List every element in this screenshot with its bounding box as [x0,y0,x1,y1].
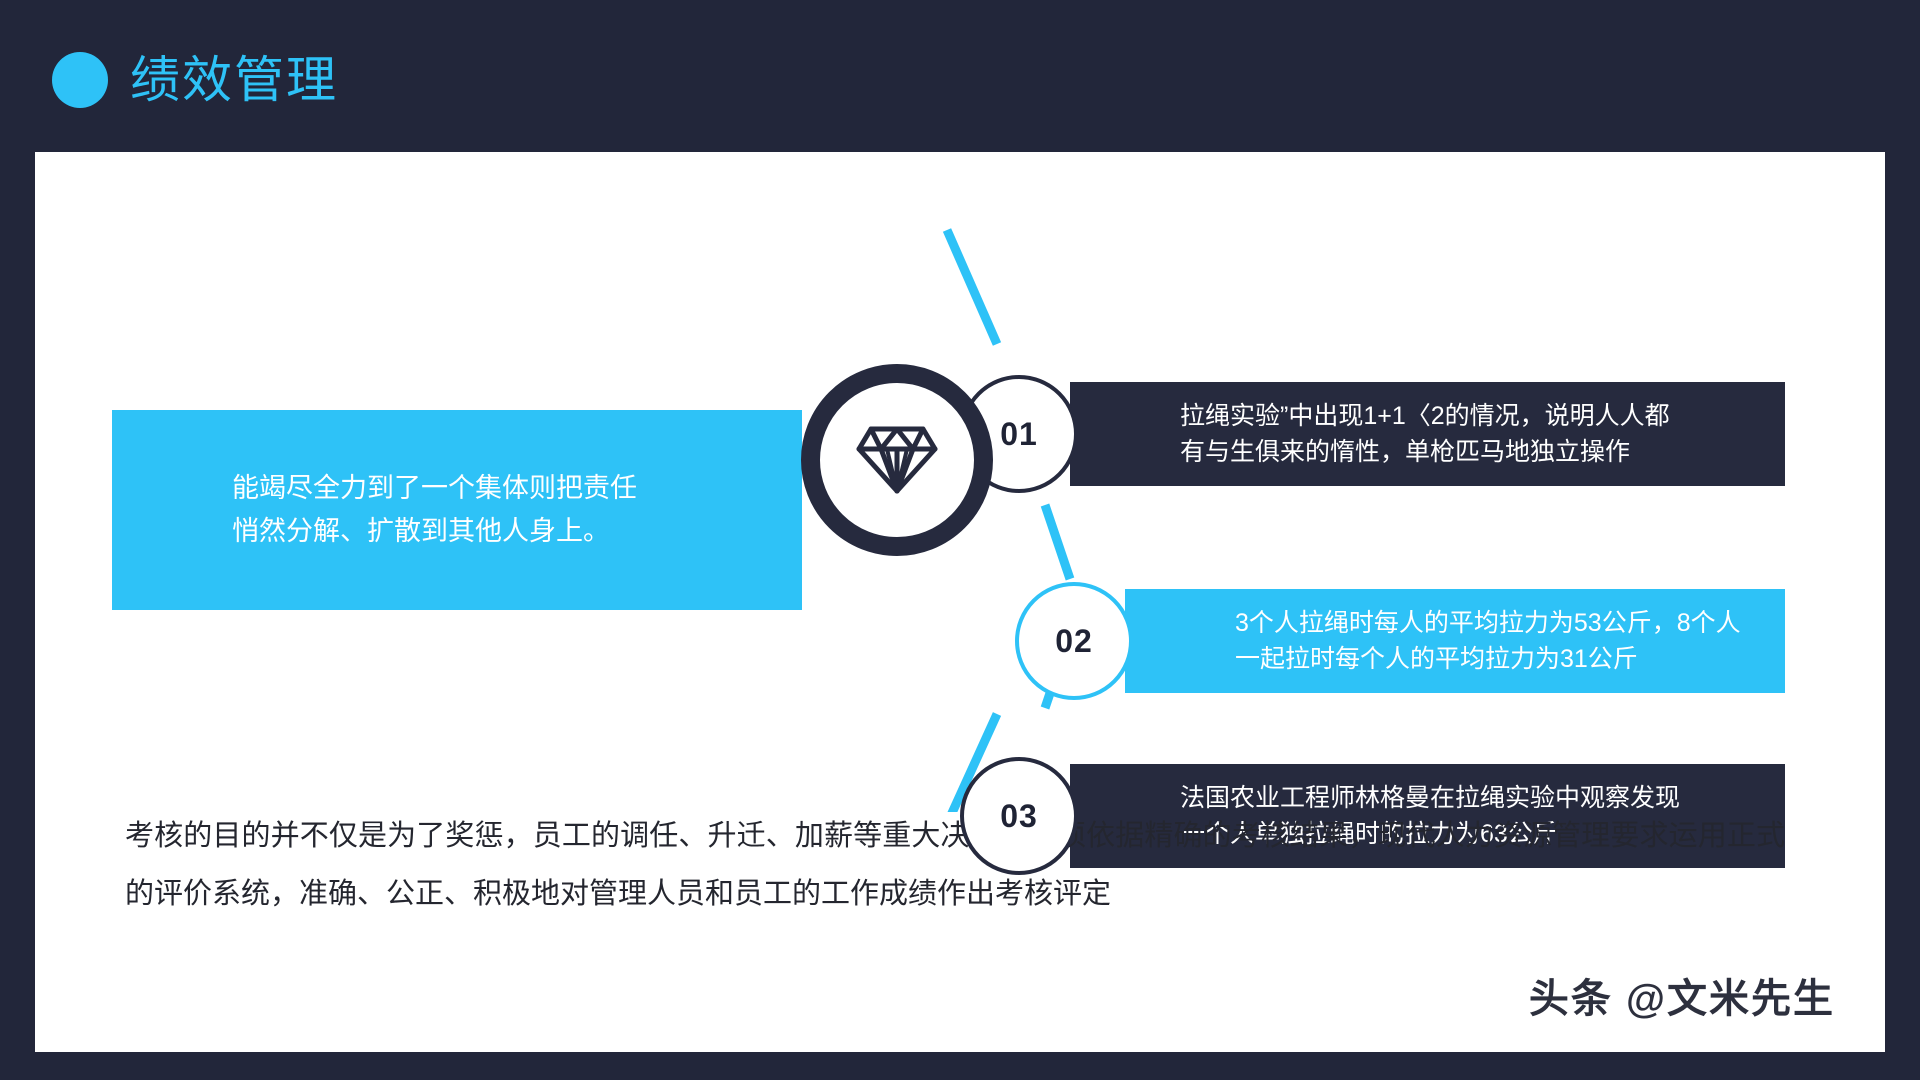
step-circle-03[interactable]: 03 [960,757,1078,875]
step-text-02: 3个人拉绳时每人的平均拉力为53公斤，8个人 一起拉时每个人的平均拉力为31公斤 [1125,605,1771,678]
step-number-02: 02 [1055,623,1093,660]
step-number-01: 01 [1000,416,1038,453]
slide-root: 绩效管理 能竭尽全力到了一个集体则把责任 悄然分解、扩散到其他人身上。 [0,0,1920,1080]
step-bar-01: 拉绳实验”中出现1+1〈2的情况，说明人人都 有与生俱来的惰性，单枪匹马地独立操… [1070,382,1785,486]
diamond-icon [854,423,940,497]
center-badge [801,364,993,556]
step-text-01: 拉绳实验”中出现1+1〈2的情况，说明人人都 有与生俱来的惰性，单枪匹马地独立操… [1070,398,1700,471]
circle-bullet-icon [52,52,108,108]
content-card: 能竭尽全力到了一个集体则把责任 悄然分解、扩散到其他人身上。 [35,152,1885,1052]
watermark: 头条 @文米先生 [1529,966,1835,1024]
page-title: 绩效管理 [130,55,338,105]
step-bar-02: 3个人拉绳时每人的平均拉力为53公斤，8个人 一起拉时每个人的平均拉力为31公斤 [1125,589,1785,693]
process-diagram: 能竭尽全力到了一个集体则把责任 悄然分解、扩散到其他人身上。 [35,152,1885,812]
step-circle-02[interactable]: 02 [1015,582,1133,700]
footer-paragraph: 考核的目的并不仅是为了奖惩，员工的调任、升迁、加薪等重大决定都必须依据精确的考核… [125,807,1785,923]
left-summary-text: 能竭尽全力到了一个集体则把责任 悄然分解、扩散到其他人身上。 [112,467,787,553]
step-number-03: 03 [1000,798,1038,835]
left-summary-panel: 能竭尽全力到了一个集体则把责任 悄然分解、扩散到其他人身上。 [112,410,802,610]
slide-header: 绩效管理 [52,52,338,108]
